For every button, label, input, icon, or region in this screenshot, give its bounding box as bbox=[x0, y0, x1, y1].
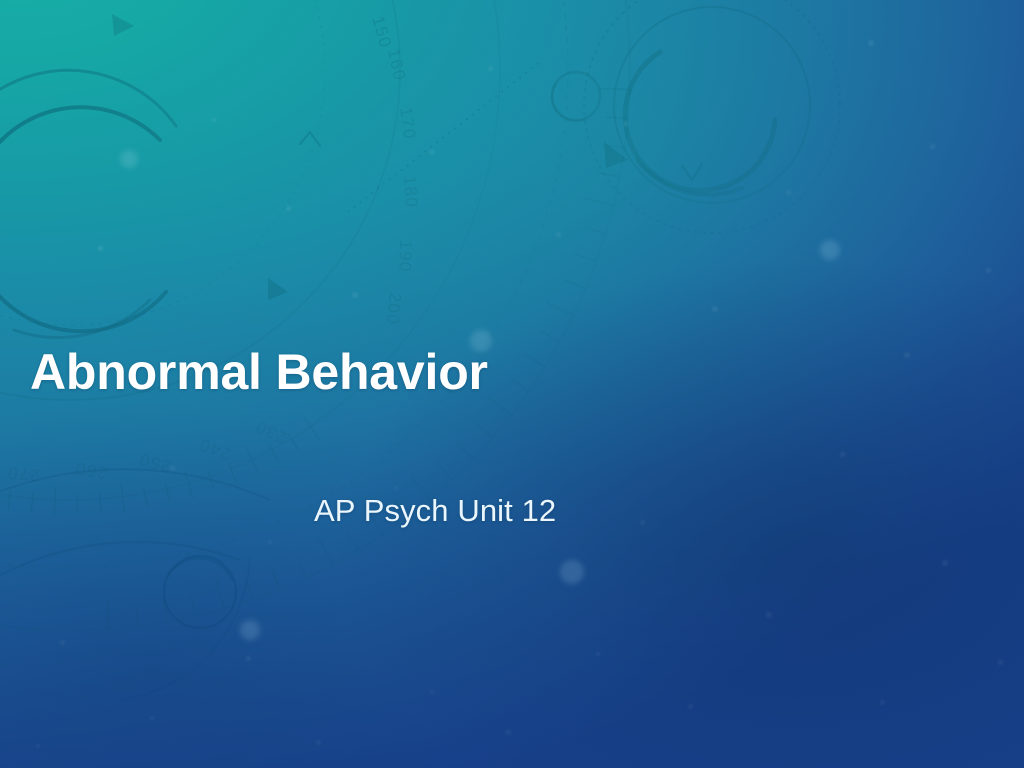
title-placeholder[interactable]: Abnormal Behavior bbox=[30, 344, 790, 400]
presentation-slide: 150 160 170 180 190 200 270 260 250 240 … bbox=[0, 0, 1024, 768]
svg-text:150: 150 bbox=[368, 14, 395, 51]
svg-text:230: 230 bbox=[252, 416, 290, 447]
svg-text:180: 180 bbox=[400, 175, 421, 209]
svg-text:160: 160 bbox=[384, 47, 409, 83]
svg-text:250: 250 bbox=[136, 449, 173, 476]
svg-text:200: 200 bbox=[383, 292, 405, 327]
slide-subtitle: AP Psych Unit 12 bbox=[314, 492, 934, 529]
subtitle-placeholder[interactable]: AP Psych Unit 12 bbox=[314, 492, 934, 529]
svg-text:190: 190 bbox=[395, 240, 415, 273]
svg-text:270: 270 bbox=[6, 463, 40, 485]
svg-text:170: 170 bbox=[396, 106, 419, 141]
svg-text:240: 240 bbox=[196, 434, 234, 464]
svg-text:260: 260 bbox=[73, 458, 109, 482]
slide-title: Abnormal Behavior bbox=[30, 344, 790, 400]
